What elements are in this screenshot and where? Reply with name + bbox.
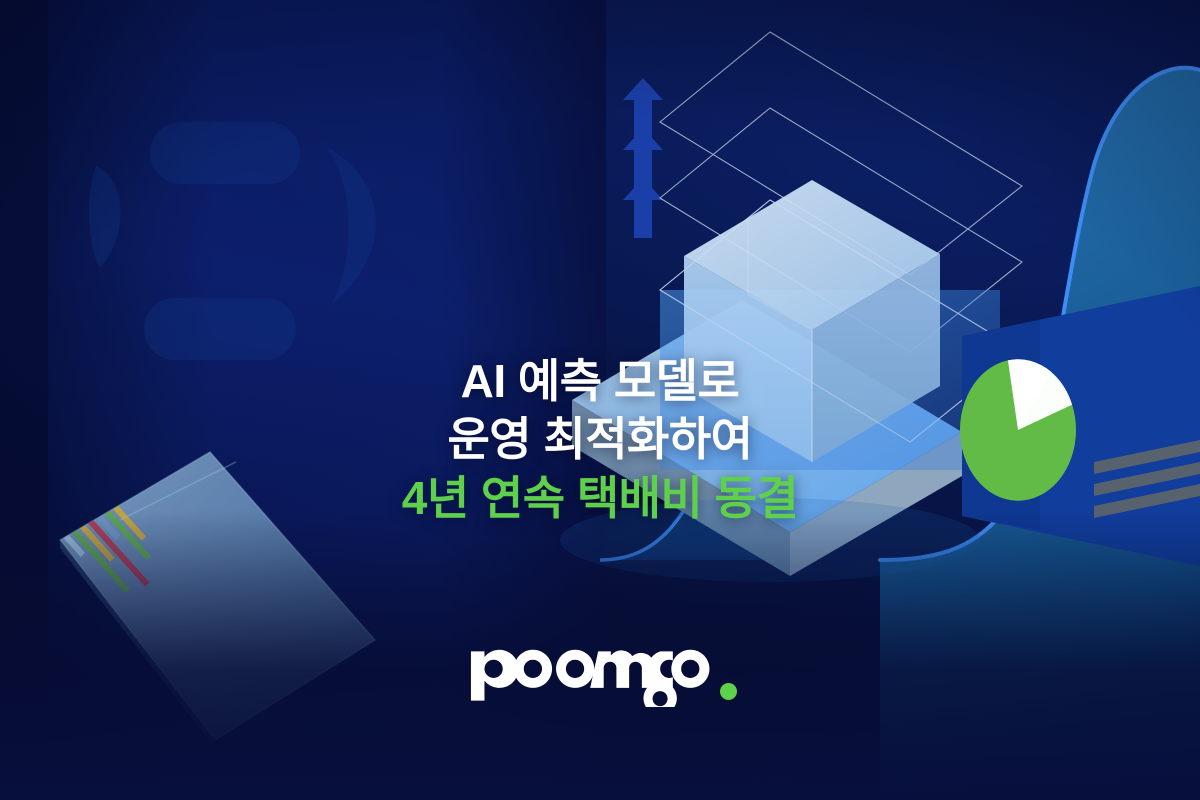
headline-line-1: AI 예측 모델로 [0, 352, 1200, 410]
headline-line-3: 4년 연속 택배비 동결 [0, 469, 1200, 527]
brand-dot-icon [720, 683, 737, 700]
promo-banner: AI 예측 모델로 운영 최적화하여 4년 연속 택배비 동결 [0, 0, 1200, 800]
brand-logo-lockup [0, 645, 1200, 707]
headline-block: AI 예측 모델로 운영 최적화하여 4년 연속 택배비 동결 [0, 352, 1200, 527]
poomgo-wordmark-icon [463, 645, 711, 707]
headline-line-2: 운영 최적화하여 [0, 410, 1200, 468]
